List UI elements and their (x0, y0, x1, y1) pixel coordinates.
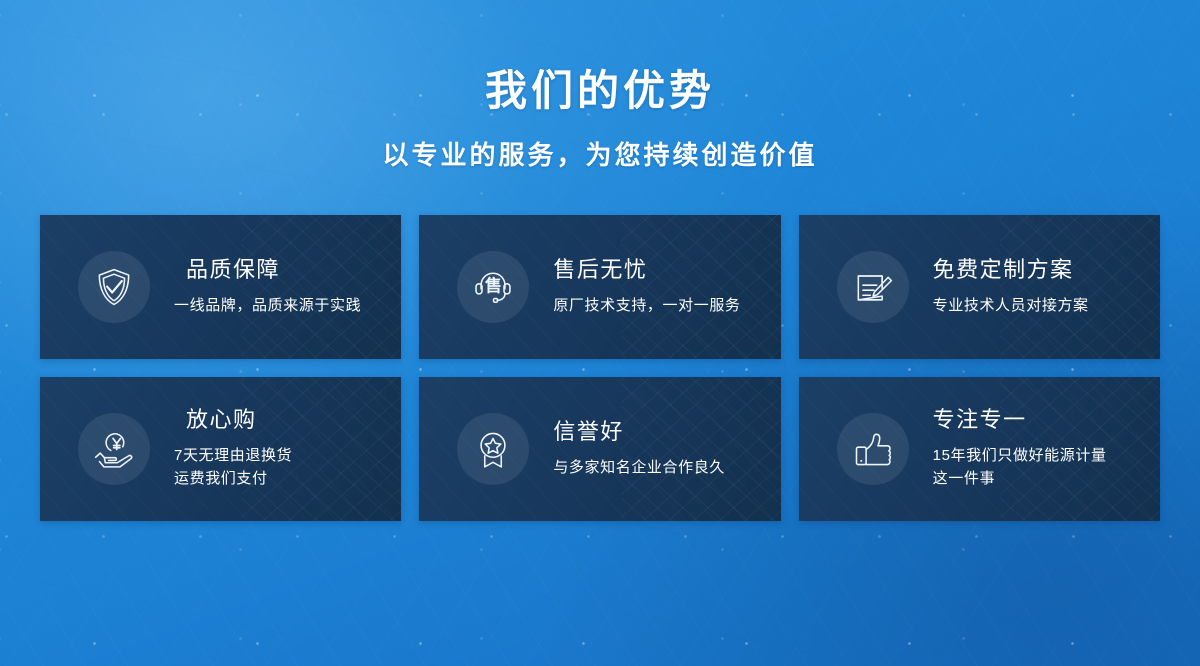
shield-check-icon (78, 251, 150, 323)
card-desc-line: 这一件事 (933, 468, 1107, 491)
card-desc-line: 一线品牌，品质来源于实践 (174, 295, 361, 318)
card-title: 售后无忧 (553, 258, 740, 282)
advantage-card-grid: 品质保障 一线品牌，品质来源于实践 售 售后无忧 (40, 215, 1160, 521)
card-desc: 15年我们只做好能源计量 这一件事 (933, 445, 1107, 490)
card-title: 品质保障 (174, 258, 361, 282)
card-desc-line: 运费我们支付 (174, 468, 292, 491)
headset-support-icon: 售 (457, 251, 529, 323)
card-text: 售后无忧 原厂技术支持，一对一服务 (553, 258, 756, 318)
hand-yuan-icon (78, 413, 150, 485)
card-desc-line: 与多家知名企业合作良久 (553, 457, 725, 480)
card-text: 专注专一 15年我们只做好能源计量 这一件事 (933, 408, 1123, 490)
section-subtitle: 以专业的服务，为您持续创造价值 (0, 140, 1200, 171)
card-text: 放心购 7天无理由退换货 运费我们支付 (174, 408, 308, 490)
card-desc: 原厂技术支持，一对一服务 (553, 295, 740, 318)
card-desc: 专业技术人员对接方案 (933, 295, 1089, 318)
advantage-card-aftersales[interactable]: 售 售后无忧 原厂技术支持，一对一服务 (419, 215, 780, 359)
card-desc-line: 7天无理由退换货 (174, 445, 292, 468)
card-desc-line: 15年我们只做好能源计量 (933, 445, 1107, 468)
card-text: 信誉好 与多家知名企业合作良久 (553, 420, 741, 480)
card-desc: 7天无理由退换货 运费我们支付 (174, 445, 292, 490)
thumbs-up-icon (837, 413, 909, 485)
card-desc: 一线品牌，品质来源于实践 (174, 295, 361, 318)
advantage-card-reputation[interactable]: 信誉好 与多家知名企业合作良久 (419, 377, 780, 521)
card-text: 品质保障 一线品牌，品质来源于实践 (174, 258, 377, 318)
advantage-card-focus[interactable]: 专注专一 15年我们只做好能源计量 这一件事 (799, 377, 1160, 521)
card-title: 专注专一 (933, 408, 1107, 432)
advantage-card-safe-purchase[interactable]: 放心购 7天无理由退换货 运费我们支付 (40, 377, 401, 521)
card-text: 免费定制方案 专业技术人员对接方案 (933, 258, 1105, 318)
card-desc-line: 原厂技术支持，一对一服务 (553, 295, 740, 318)
document-edit-icon (837, 251, 909, 323)
star-medal-icon (457, 413, 529, 485)
advantages-banner: 我们的优势 以专业的服务，为您持续创造价值 品质保障 一线品牌，品质来源于实践 (0, 0, 1200, 666)
section-headings: 我们的优势 以专业的服务，为您持续创造价值 (0, 0, 1200, 171)
card-desc: 与多家知名企业合作良久 (553, 457, 725, 480)
section-title: 我们的优势 (0, 68, 1200, 114)
advantage-card-quality[interactable]: 品质保障 一线品牌，品质来源于实践 (40, 215, 401, 359)
card-title: 放心购 (174, 408, 292, 432)
headset-icon-glyph: 售 (485, 278, 502, 295)
advantage-card-custom-plan[interactable]: 免费定制方案 专业技术人员对接方案 (799, 215, 1160, 359)
card-desc-line: 专业技术人员对接方案 (933, 295, 1089, 318)
card-title: 信誉好 (553, 420, 725, 444)
card-title: 免费定制方案 (933, 258, 1089, 282)
